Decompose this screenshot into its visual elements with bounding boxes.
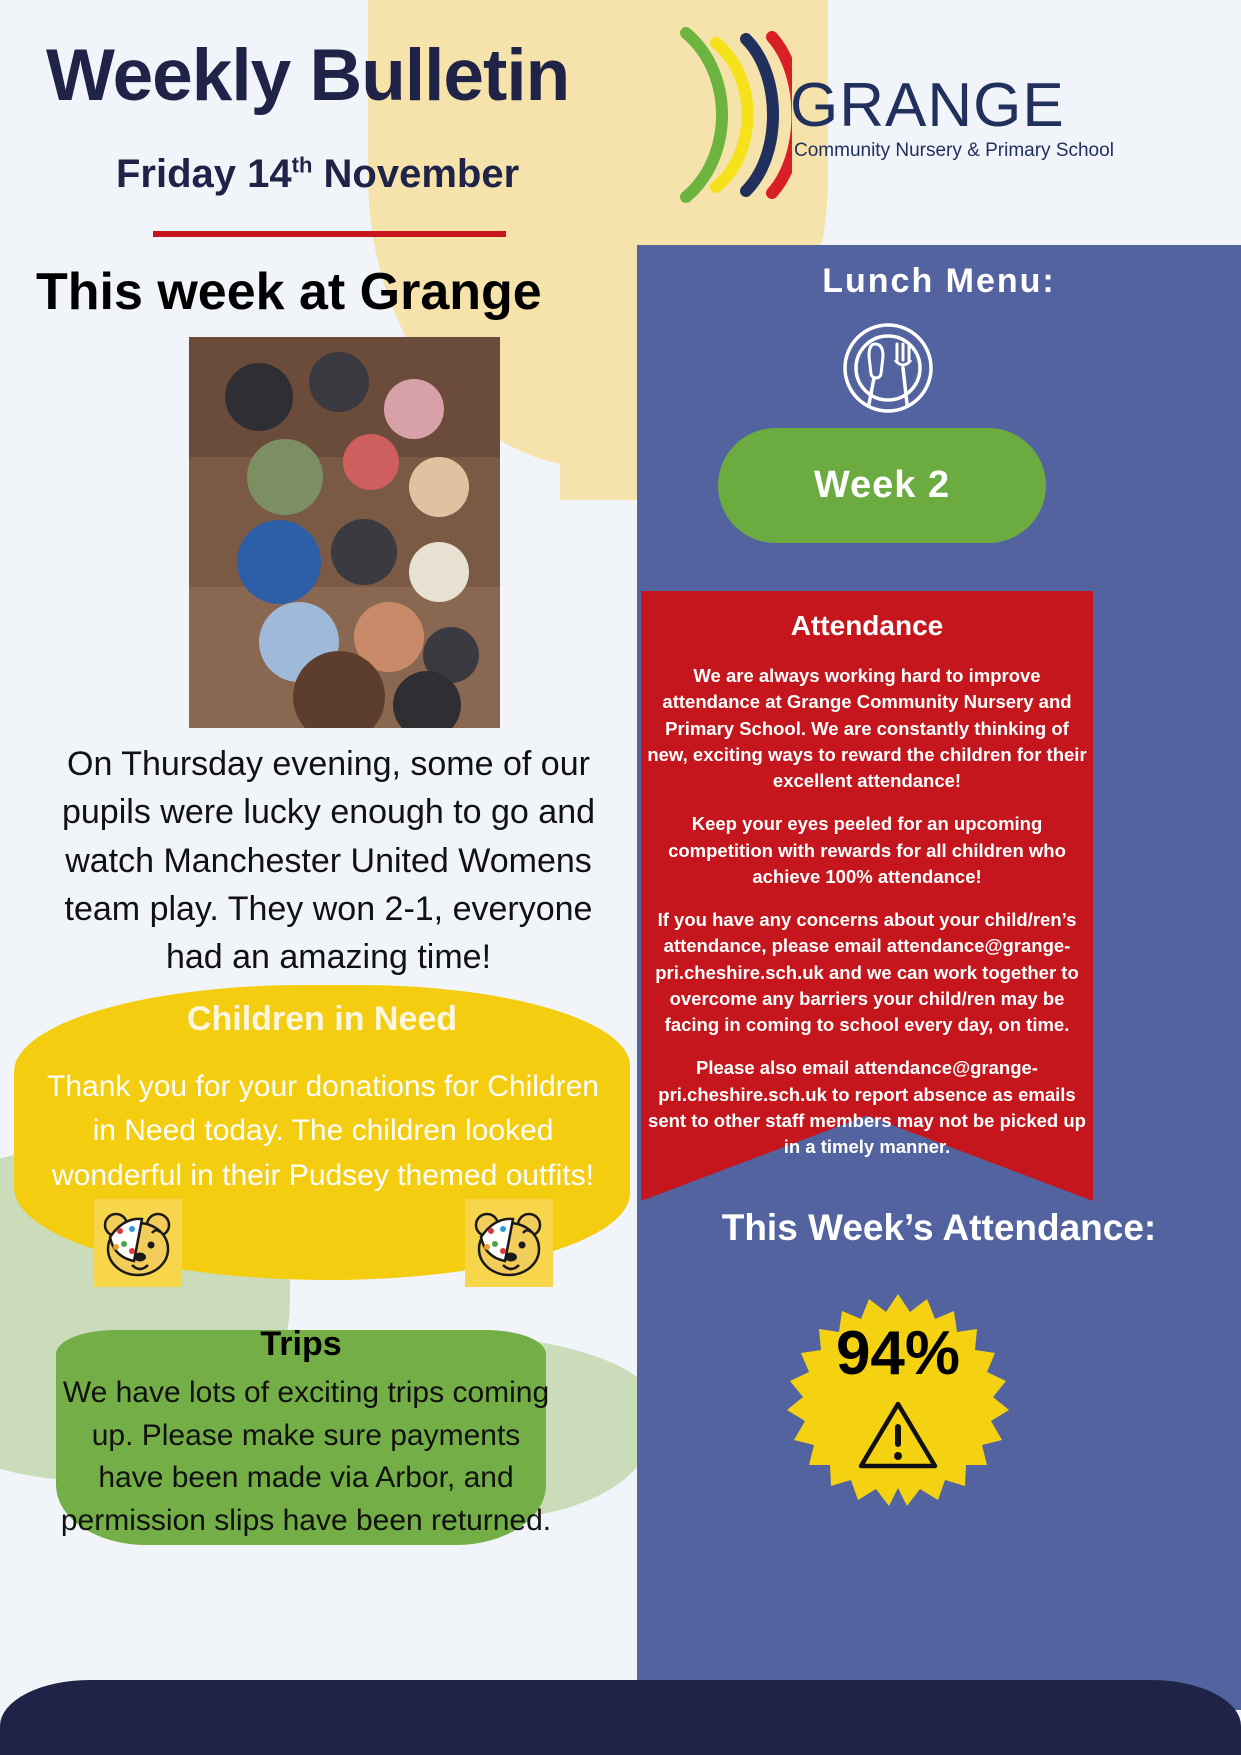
attendance-paragraph-3: If you have any concerns about your chil… [645,907,1089,1038]
page-title: Weekly Bulletin [46,34,569,117]
date-suffix: November [312,152,519,196]
date-prefix: Friday 14 [116,152,292,196]
children-in-need-title: Children in Need [0,1000,644,1039]
trips-title: Trips [56,1325,546,1364]
logo-arcs-icon [672,25,792,205]
photo-caption: On Thursday evening, some of our pupils … [36,740,621,981]
lunch-week-pill: Week 2 [718,428,1046,543]
attendance-percent: 94% [783,1318,1013,1389]
section-heading-this-week: This week at Grange [36,262,542,322]
attendance-body: We are always working hard to improve at… [645,663,1089,1161]
photo-illustration-icon [189,337,500,728]
school-logo: GRANGE Community Nursery & Primary Schoo… [672,25,1072,210]
logo-wordmark: GRANGE [790,70,1065,141]
trips-body: We have lots of exciting trips coming up… [56,1372,556,1542]
bulletin-page: Weekly Bulletin Friday 14th November GRA… [0,0,1241,1755]
this-week-attendance-title: This Week’s Attendance: [637,1207,1241,1249]
attendance-paragraph-1: We are always working hard to improve at… [645,663,1089,794]
attendance-title: Attendance [641,610,1093,642]
logo-tagline: Community Nursery & Primary School [794,140,1114,162]
pudsey-bear-icon [94,1199,182,1287]
pupils-photo [189,337,500,728]
bottom-navy-bar [0,1680,1241,1755]
pudsey-bear-icon-2 [465,1199,553,1287]
date-ordinal: th [292,153,313,178]
title-divider [153,231,506,237]
warning-triangle-icon [855,1398,941,1477]
attendance-paragraph-4: Please also email attendance@grange-pri.… [645,1055,1089,1160]
lunch-menu-title: Lunch Menu: [637,262,1241,301]
children-in-need-body: Thank you for your donations for Childre… [45,1065,601,1198]
bulletin-date: Friday 14th November [116,152,519,197]
attendance-paragraph-2: Keep your eyes peeled for an upcoming co… [645,811,1089,890]
plate-cutlery-icon [833,318,943,423]
